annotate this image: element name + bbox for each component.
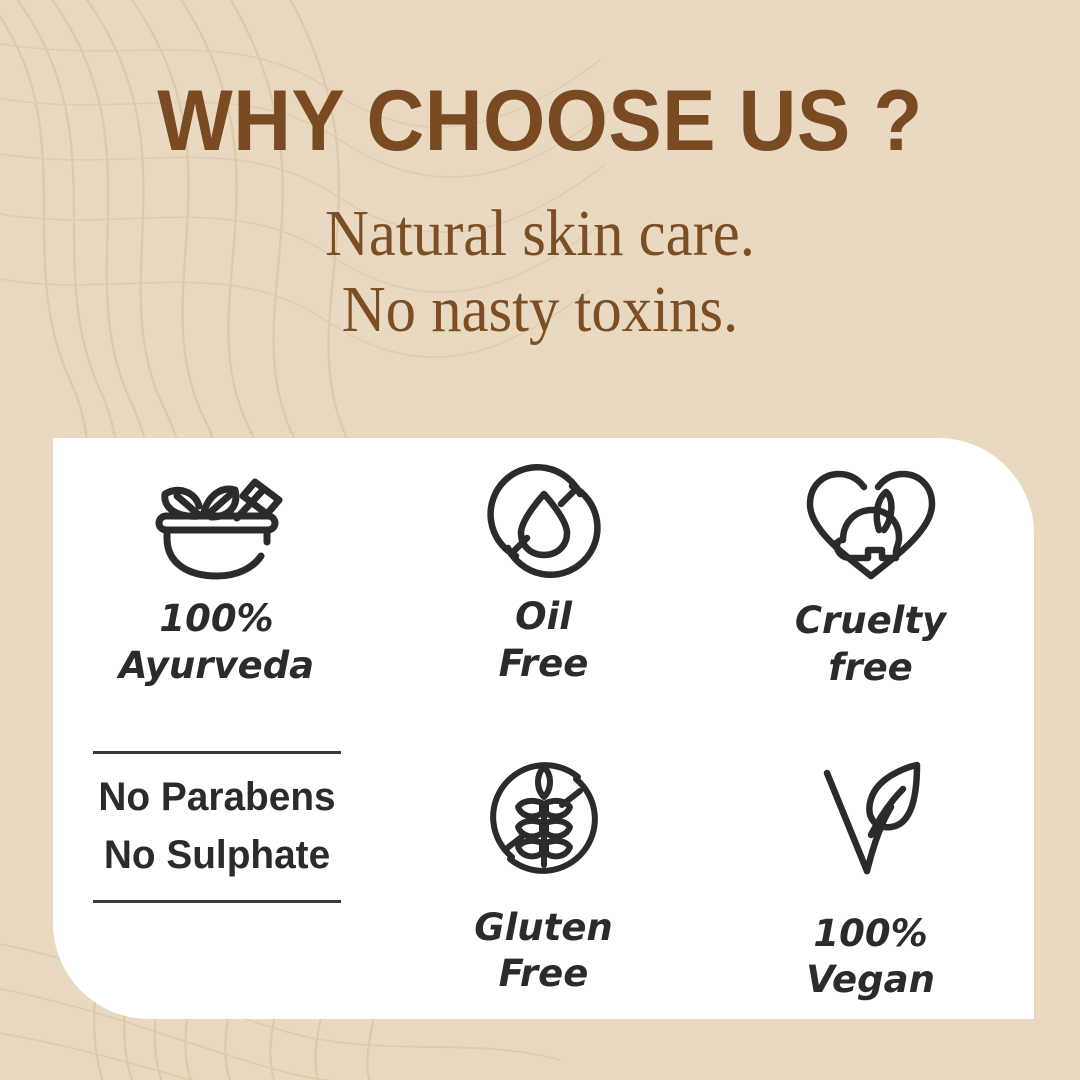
feature-label-line-2: Ayurveda bbox=[119, 643, 314, 690]
free-from-line-2: No Sulphate bbox=[96, 826, 337, 884]
feature-item-vegan: 100% Vegan bbox=[707, 729, 1034, 1020]
promo-poster: WHY CHOOSE US ? Natural skin care. No na… bbox=[0, 0, 1080, 1080]
free-from-text-block: No Parabens No Sulphate bbox=[93, 751, 341, 903]
feature-label-line-1: Gluten bbox=[474, 905, 613, 952]
feature-label-line-2: Free bbox=[474, 951, 613, 998]
feature-item-oil-free: Oil Free bbox=[380, 438, 707, 729]
feature-label-line-1: Oil bbox=[499, 594, 589, 641]
feature-label-line-1: Cruelty bbox=[795, 598, 946, 645]
feature-label-line-2: free bbox=[795, 645, 946, 692]
feature-label-line-2: Vegan bbox=[806, 957, 935, 1004]
feature-item-ayurveda: 100% Ayurveda bbox=[53, 438, 380, 729]
header-block: WHY CHOOSE US ? Natural skin care. No na… bbox=[0, 78, 1080, 349]
subtitle-line-1: Natural skin care. bbox=[43, 196, 1037, 273]
feature-label-gluten-free: Gluten Free bbox=[474, 905, 613, 998]
feature-item-gluten-free: Gluten Free bbox=[380, 729, 707, 1020]
feature-grid: 100% Ayurveda bbox=[53, 438, 1034, 1019]
page-title: WHY CHOOSE US ? bbox=[38, 78, 1042, 166]
feature-label-ayurveda: 100% Ayurveda bbox=[119, 596, 314, 689]
heart-rabbit-icon bbox=[796, 462, 946, 584]
free-from-line-1: No Parabens bbox=[96, 768, 337, 826]
feature-item-free-from: No Parabens No Sulphate bbox=[53, 729, 380, 1020]
mortar-pestle-leaves-icon bbox=[137, 462, 297, 582]
feature-card: 100% Ayurveda bbox=[53, 438, 1034, 1019]
feature-label-line-1: 100% bbox=[119, 596, 314, 643]
vegan-leaf-v-icon bbox=[807, 751, 935, 895]
no-wheat-icon bbox=[480, 751, 608, 883]
page-subtitle: Natural skin care. No nasty toxins. bbox=[43, 196, 1037, 349]
feature-label-cruelty-free: Cruelty free bbox=[795, 598, 946, 691]
feature-label-vegan: 100% Vegan bbox=[806, 911, 935, 1004]
feature-label-oil-free: Oil Free bbox=[499, 594, 589, 687]
feature-label-line-1: 100% bbox=[806, 911, 935, 958]
no-oil-droplet-icon bbox=[478, 462, 610, 580]
feature-item-cruelty-free: Cruelty free bbox=[707, 438, 1034, 729]
feature-label-line-2: Free bbox=[499, 641, 589, 688]
subtitle-line-2: No nasty toxins. bbox=[43, 272, 1037, 349]
